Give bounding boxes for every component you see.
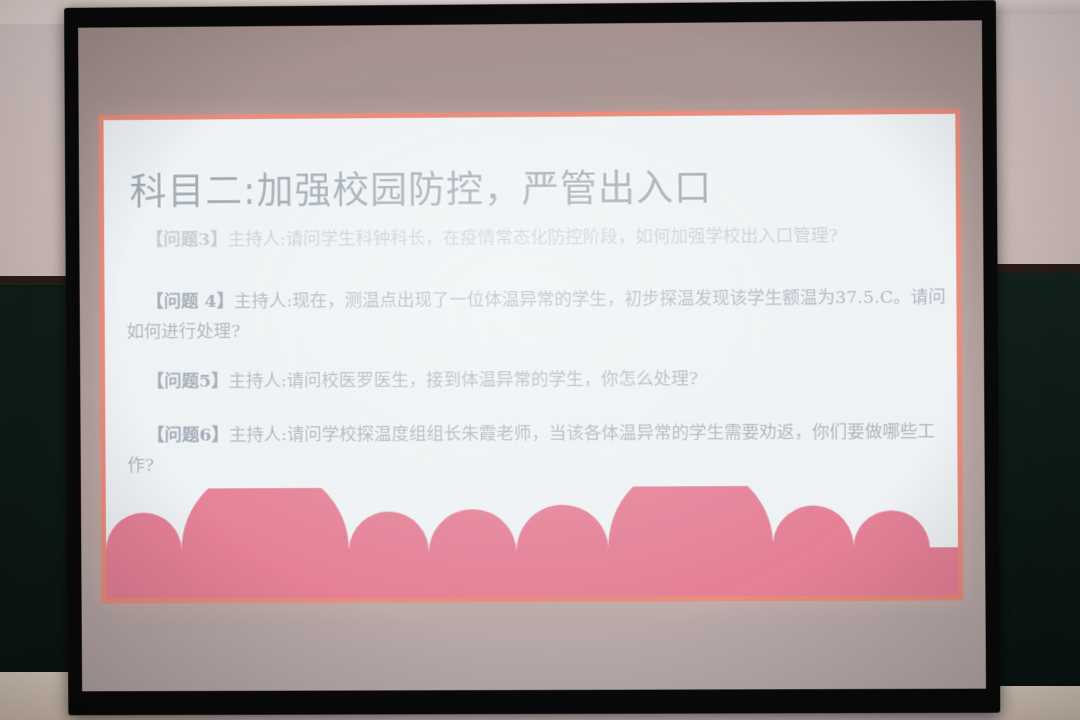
question-text-3: 主持人:请问学生科钟科长，在疫情常态化防控阶段，如何加强学校出入口管理? [228, 226, 838, 250]
question-item-3: 【问题3】主持人:请问学生科钟科长，在疫情常态化防控阶段，如何加强学校出入口管理… [126, 220, 958, 256]
question-tag-5: 【问题5】 [147, 372, 229, 392]
question-item-6: 【问题6】主持人:请问学校探温度组组长朱霞老师，当该各体温异常的学生需要劝返，你… [127, 417, 958, 481]
projection-screen-assembly: 科目二:加强校园防控，严管出入口 【问题3】主持人:请问学生科钟科长，在疫情常态… [64, 0, 1000, 715]
blackboard-right [990, 270, 1080, 700]
projection-screen-surface: 科目二:加强校园防控，严管出入口 【问题3】主持人:请问学生科钟科长，在疫情常态… [78, 20, 986, 691]
bottom-scallop-decoration [106, 485, 959, 598]
slide-title: 科目二:加强校园防控，严管出入口 [130, 168, 713, 215]
presentation-slide: 科目二:加强校园防控，严管出入口 【问题3】主持人:请问学生科钟科长，在疫情常态… [103, 114, 958, 599]
question-item-4: 【问题 4】主持人:现在，测温点出现了一位体温异常的学生，初步探温发现该学生额温… [126, 282, 958, 347]
question-tag-6: 【问题6】 [147, 426, 229, 446]
question-tag-4: 【问题 4】 [146, 292, 234, 312]
wall-corner-top-left [0, 0, 70, 24]
question-text-6: 主持人:请问学校探温度组组长朱霞老师，当该各体温异常的学生需要劝返，你们要做哪些… [127, 422, 935, 476]
slide-border: 科目二:加强校园防控，严管出入口 【问题3】主持人:请问学生科钟科长，在疫情常态… [98, 109, 963, 604]
question-item-5: 【问题5】主持人:请问校医罗医生，接到体温异常的学生，你怎么处理? [127, 363, 958, 398]
question-tag-3: 【问题3】 [146, 230, 228, 250]
classroom-scene: 科目二:加强校园防控，严管出入口 【问题3】主持人:请问学生科钟科长，在疫情常态… [0, 0, 1080, 720]
question-text-5: 主持人:请问校医罗医生，接到体温异常的学生，你怎么处理? [228, 369, 698, 392]
question-text-4: 主持人:现在，测温点出现了一位体温异常的学生，初步探温发现该学生额温为37.5.… [127, 287, 946, 342]
blackboard-frame-right [990, 264, 1080, 273]
floor-right [1000, 686, 1080, 720]
